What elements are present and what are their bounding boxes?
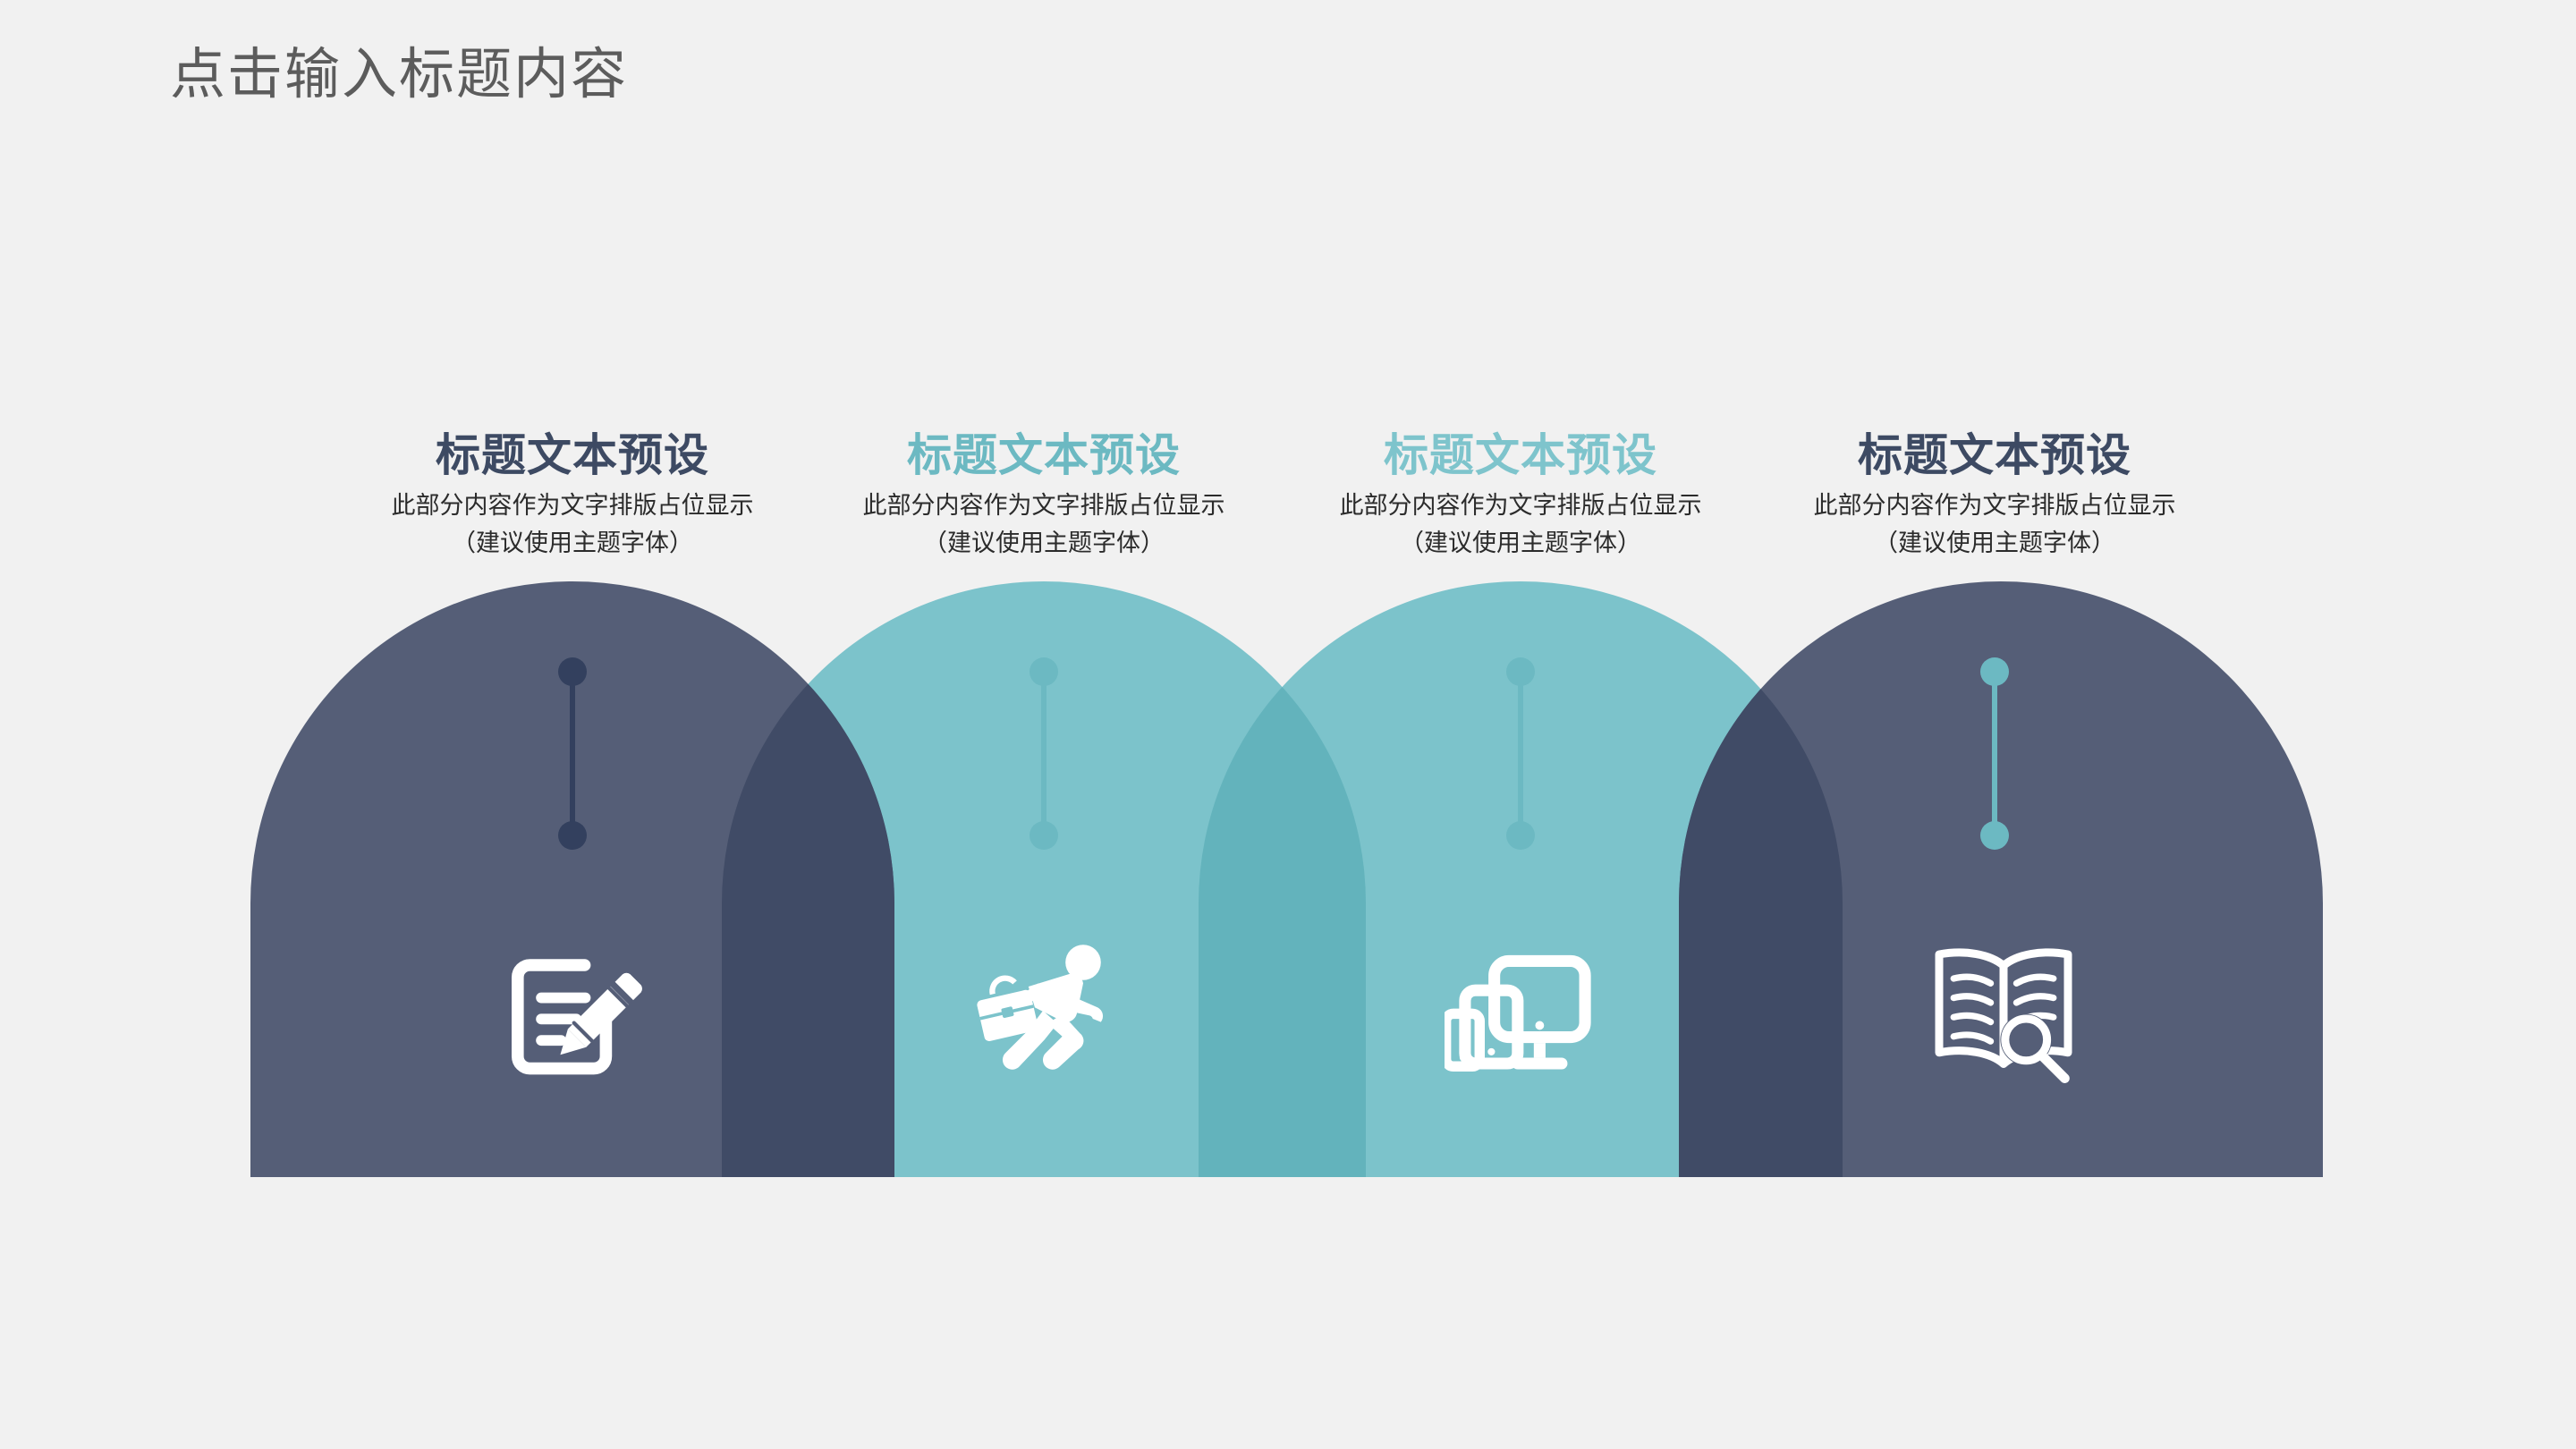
column-body-1[interactable]: 此部分内容作为文字排版占位显示 （建议使用主题字体） — [358, 487, 787, 563]
connector-dot-bottom-3 — [1506, 821, 1535, 850]
connector-3 — [1518, 657, 1523, 850]
connector-line-4 — [1992, 670, 1997, 837]
connector-line-1 — [570, 670, 575, 837]
column-4: 标题文本预设 此部分内容作为文字排版占位显示 （建议使用主题字体） — [1780, 429, 2209, 563]
column-3: 标题文本预设 此部分内容作为文字排版占位显示 （建议使用主题字体） — [1306, 429, 1735, 563]
connector-line-3 — [1518, 670, 1523, 837]
responsive-devices-icon — [1445, 944, 1606, 1087]
column-title-4[interactable]: 标题文本预设 — [1780, 429, 2209, 482]
running-businessman-icon — [970, 930, 1131, 1091]
column-body-4[interactable]: 此部分内容作为文字排版占位显示 （建议使用主题字体） — [1780, 487, 2209, 563]
column-1: 标题文本预设 此部分内容作为文字排版占位显示 （建议使用主题字体） — [358, 429, 787, 563]
connector-2 — [1041, 657, 1046, 850]
column-title-2[interactable]: 标题文本预设 — [829, 429, 1258, 482]
slide-canvas: 点击输入标题内容 — [0, 0, 2576, 1449]
connector-1 — [570, 657, 575, 850]
column-body-3[interactable]: 此部分内容作为文字排版占位显示 （建议使用主题字体） — [1306, 487, 1735, 563]
connector-dot-bottom-4 — [1980, 821, 2009, 850]
column-body-2[interactable]: 此部分内容作为文字排版占位显示 （建议使用主题字体） — [829, 487, 1258, 563]
column-title-3[interactable]: 标题文本预设 — [1306, 429, 1735, 482]
column-2: 标题文本预设 此部分内容作为文字排版占位显示 （建议使用主题字体） — [829, 429, 1258, 563]
connector-dot-bottom-1 — [558, 821, 587, 850]
arch-band — [0, 0, 2576, 1449]
connector-dot-bottom-2 — [1030, 821, 1058, 850]
connector-4 — [1992, 657, 1997, 850]
open-book-search-icon — [1923, 930, 2084, 1091]
column-title-1[interactable]: 标题文本预设 — [358, 429, 787, 482]
connector-line-2 — [1041, 670, 1046, 837]
note-pencil-icon — [496, 935, 648, 1087]
